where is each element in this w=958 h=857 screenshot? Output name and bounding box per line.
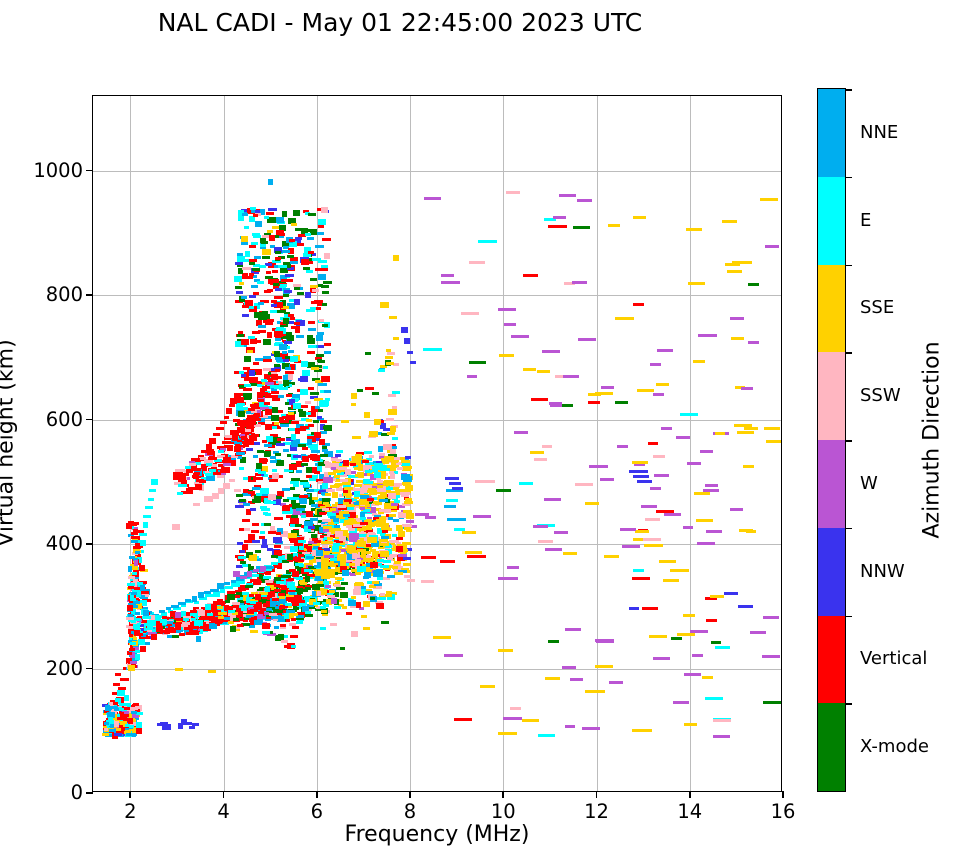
- data-point-w: [589, 465, 607, 468]
- data-point-sse: [375, 502, 382, 505]
- data-point-nnw: [162, 724, 171, 730]
- data-point-ssw: [348, 528, 356, 531]
- data-point-e: [213, 591, 220, 597]
- data-point-e: [633, 569, 645, 572]
- data-point-vertical: [286, 394, 291, 397]
- data-point-e: [374, 472, 382, 478]
- data-point-vertical: [266, 212, 275, 215]
- data-point-vertical: [215, 621, 222, 624]
- data-point-nnw: [445, 477, 460, 480]
- data-point-e: [250, 207, 256, 210]
- gridline-horizontal: [93, 171, 781, 172]
- y-tick-mark: [86, 294, 93, 296]
- data-point-sse: [379, 539, 388, 542]
- data-point-vertical: [267, 289, 273, 292]
- data-point-nne: [131, 711, 137, 714]
- data-point-ssw: [217, 475, 224, 478]
- data-point-vertical: [271, 391, 279, 394]
- data-point-x-mode: [237, 334, 244, 337]
- data-point-vertical: [315, 268, 323, 271]
- data-point-sse: [480, 685, 495, 688]
- data-point-w: [601, 386, 614, 389]
- data-point-vertical: [120, 712, 124, 718]
- x-tick-label: 14: [677, 802, 702, 822]
- data-point-sse: [398, 531, 405, 537]
- data-point-vertical: [178, 476, 187, 482]
- data-point-vertical: [262, 623, 270, 629]
- data-point-e: [446, 499, 457, 502]
- data-point-nne: [126, 733, 133, 736]
- y-tick-mark: [86, 792, 93, 794]
- data-point-w: [223, 463, 231, 466]
- data-point-w: [550, 404, 561, 407]
- data-point-x-mode: [357, 389, 364, 392]
- data-point-vertical: [226, 408, 232, 414]
- data-point-vertical: [314, 471, 320, 474]
- gridline-horizontal: [93, 420, 781, 421]
- data-point-e: [304, 569, 311, 572]
- data-point-sse: [400, 457, 405, 460]
- data-point-vertical: [265, 409, 272, 415]
- data-point-vertical: [237, 624, 243, 627]
- data-point-sse: [732, 261, 752, 264]
- data-point-vertical: [133, 529, 138, 535]
- data-point-nne: [364, 572, 371, 578]
- colorbar-segment-nne[interactable]: [818, 89, 845, 177]
- data-point-e: [259, 401, 264, 407]
- data-point-sse: [465, 551, 483, 554]
- data-point-vertical: [642, 607, 657, 610]
- data-point-x-mode: [242, 623, 250, 626]
- data-point-x-mode: [548, 640, 559, 643]
- data-point-w: [444, 654, 463, 657]
- data-point-w: [741, 387, 753, 390]
- data-point-e: [285, 603, 292, 606]
- data-point-x-mode: [273, 283, 280, 286]
- data-point-vertical: [184, 627, 193, 630]
- colorbar-tick: [845, 352, 852, 354]
- data-point-e: [151, 479, 157, 485]
- data-point-vertical: [275, 376, 280, 379]
- data-point-e: [291, 434, 296, 440]
- data-point-sse: [498, 649, 513, 652]
- data-point-sse: [385, 356, 392, 359]
- colorbar-segment-sse[interactable]: [818, 265, 845, 353]
- data-point-vertical: [209, 438, 217, 444]
- data-point-nne: [266, 566, 274, 569]
- data-point-sse: [386, 362, 394, 365]
- data-point-vertical: [124, 707, 130, 710]
- x-tick-label: 8: [404, 802, 416, 822]
- data-point-nnw: [629, 470, 647, 473]
- data-point-vertical: [249, 245, 256, 248]
- data-point-nne: [224, 582, 230, 585]
- data-point-nnw: [449, 482, 461, 485]
- data-point-e: [252, 233, 260, 236]
- data-point-sse: [306, 419, 312, 422]
- data-point-sse: [403, 563, 411, 566]
- data-point-sse: [363, 527, 372, 530]
- data-point-x-mode: [381, 621, 389, 624]
- data-point-ssw: [223, 483, 231, 489]
- data-point-x-mode: [262, 311, 268, 314]
- data-point-sse: [710, 595, 724, 598]
- data-point-vertical: [274, 545, 281, 548]
- data-point-vertical: [278, 410, 284, 413]
- data-point-sse: [405, 485, 414, 491]
- data-point-x-mode: [255, 550, 261, 553]
- colorbar[interactable]: NNEESSESSWWNNWVerticalX-mode: [817, 88, 846, 792]
- data-point-vertical: [343, 460, 349, 466]
- data-point-w: [425, 516, 435, 519]
- data-point-e: [310, 307, 316, 310]
- data-point-e: [183, 618, 190, 621]
- data-point-e: [308, 345, 317, 348]
- data-point-sse: [330, 508, 336, 511]
- data-point-nne: [444, 505, 456, 508]
- data-point-sse: [333, 528, 340, 531]
- data-point-sse: [250, 630, 257, 633]
- data-point-w: [687, 462, 700, 465]
- ionogram-figure: NAL CADI - May 01 22:45:00 2023 UTC 2468…: [0, 0, 958, 857]
- colorbar-label-w: W: [860, 475, 878, 493]
- data-point-x-mode: [227, 594, 235, 600]
- data-point-vertical: [308, 455, 317, 458]
- data-point-nne: [270, 460, 276, 463]
- data-point-vertical: [289, 464, 298, 470]
- data-point-e: [256, 493, 262, 496]
- data-point-nne: [196, 636, 201, 642]
- data-point-x-mode: [252, 268, 260, 271]
- x-tick-label: 10: [491, 802, 516, 822]
- data-point-ssw: [242, 267, 251, 270]
- data-point-nne: [274, 626, 280, 629]
- data-point-vertical: [247, 420, 254, 426]
- data-point-vertical: [248, 534, 255, 540]
- data-point-e: [272, 469, 277, 472]
- data-point-w: [700, 450, 712, 453]
- data-point-x-mode: [293, 210, 300, 216]
- data-point-nne: [365, 591, 373, 594]
- data-point-ssw: [713, 719, 731, 722]
- data-point-nne: [140, 585, 145, 588]
- data-point-x-mode: [340, 647, 345, 650]
- data-point-e: [334, 606, 341, 609]
- data-point-w: [559, 194, 576, 197]
- data-point-e: [142, 616, 147, 619]
- data-point-sse: [632, 729, 651, 732]
- data-point-vertical: [312, 538, 318, 541]
- data-point-vertical: [382, 530, 387, 533]
- gridline-vertical: [130, 96, 131, 791]
- data-point-nne: [342, 570, 349, 576]
- data-point-vertical: [277, 438, 284, 441]
- data-point-vertical: [344, 499, 352, 502]
- data-point-vertical: [202, 617, 210, 620]
- colorbar-segment-e[interactable]: [818, 177, 845, 265]
- colorbar-segment-nnw[interactable]: [818, 528, 845, 616]
- data-point-x-mode: [365, 352, 371, 355]
- data-point-vertical: [248, 491, 254, 494]
- data-point-x-mode: [283, 380, 290, 386]
- data-point-nne: [324, 351, 331, 354]
- data-point-e: [177, 492, 183, 495]
- plot-area[interactable]: 24681012141602004006008001000: [92, 95, 782, 792]
- data-point-vertical: [269, 235, 275, 241]
- colorbar-segment-ssw[interactable]: [818, 352, 845, 440]
- data-point-e: [378, 369, 385, 372]
- data-point-e: [290, 356, 298, 362]
- data-point-vertical: [263, 359, 271, 362]
- colorbar-title: Azimuth Direction: [920, 341, 945, 538]
- data-point-sse: [684, 723, 697, 726]
- data-point-x-mode: [321, 285, 329, 288]
- data-point-vertical: [523, 274, 538, 277]
- data-point-e: [291, 645, 296, 648]
- data-point-vertical: [633, 303, 643, 306]
- data-point-e: [290, 481, 298, 484]
- data-point-x-mode: [298, 409, 303, 412]
- data-point-vertical: [276, 230, 284, 233]
- data-point-w: [683, 526, 694, 529]
- data-point-sse: [391, 460, 397, 463]
- data-point-e: [185, 466, 191, 469]
- data-point-nne: [314, 565, 321, 568]
- data-point-e: [260, 506, 267, 509]
- data-point-w: [398, 554, 407, 557]
- data-point-w: [684, 673, 702, 676]
- data-point-vertical: [140, 591, 149, 594]
- data-point-sse: [321, 610, 326, 613]
- data-point-ssw: [542, 445, 552, 448]
- data-point-ssw: [469, 261, 484, 264]
- data-point-nnw: [242, 314, 249, 317]
- data-point-e: [248, 306, 254, 309]
- data-point-e: [332, 546, 339, 552]
- data-point-vertical: [115, 673, 121, 676]
- data-point-w: [325, 555, 333, 558]
- data-point-vertical: [274, 517, 283, 520]
- data-point-sse: [585, 690, 605, 693]
- data-point-nne: [268, 179, 273, 185]
- data-point-w: [533, 525, 549, 528]
- data-point-nne: [198, 592, 204, 598]
- data-point-sse: [389, 316, 397, 319]
- data-point-e: [271, 501, 276, 504]
- data-point-w: [622, 545, 640, 548]
- data-point-e: [680, 413, 698, 416]
- data-point-x-mode: [283, 499, 289, 502]
- data-point-sse: [351, 403, 356, 406]
- data-point-sse: [347, 545, 353, 551]
- data-point-nnw: [305, 292, 312, 298]
- data-point-vertical: [236, 397, 244, 403]
- data-point-vertical: [179, 633, 185, 636]
- data-point-nnw: [324, 548, 329, 551]
- data-point-nnw: [241, 374, 246, 377]
- data-point-vertical: [656, 510, 674, 513]
- data-point-vertical: [298, 600, 305, 603]
- data-point-w: [504, 323, 515, 326]
- data-point-vertical: [190, 610, 197, 613]
- data-point-e: [130, 642, 136, 645]
- data-point-vertical: [356, 602, 362, 608]
- data-point-x-mode: [306, 467, 312, 473]
- data-point-nne: [249, 625, 255, 628]
- colorbar-segment-vertical[interactable]: [818, 616, 845, 704]
- data-point-vertical: [274, 296, 281, 299]
- data-point-w: [698, 334, 718, 337]
- data-point-sse: [364, 412, 370, 418]
- data-point-nne: [279, 344, 287, 350]
- data-point-w: [554, 531, 568, 534]
- data-point-vertical: [265, 424, 272, 430]
- data-point-w: [507, 566, 519, 569]
- data-point-e: [354, 491, 360, 497]
- data-point-nne: [283, 449, 289, 452]
- data-point-ssw: [245, 429, 252, 432]
- data-point-w: [265, 382, 274, 385]
- data-point-vertical: [113, 702, 118, 705]
- data-point-vertical: [222, 441, 229, 444]
- colorbar-segment-x-mode[interactable]: [818, 703, 845, 791]
- data-point-nne: [131, 540, 139, 543]
- data-point-e: [214, 459, 222, 462]
- data-point-sse: [376, 519, 381, 522]
- data-point-ssw: [393, 483, 402, 486]
- y-tick-label: 600: [46, 410, 83, 430]
- data-point-ssw: [104, 728, 108, 731]
- data-point-e: [318, 219, 327, 225]
- data-point-vertical: [193, 473, 199, 479]
- data-point-w: [650, 487, 661, 490]
- x-tick-mark: [316, 791, 318, 798]
- data-point-vertical: [249, 435, 257, 441]
- data-point-vertical: [259, 536, 265, 539]
- data-point-ssw: [337, 505, 346, 508]
- data-point-x-mode: [239, 499, 246, 502]
- data-point-e: [295, 563, 303, 566]
- data-point-w: [467, 375, 477, 378]
- data-point-e: [239, 371, 245, 374]
- data-point-vertical: [306, 475, 312, 478]
- data-point-sse: [637, 389, 654, 392]
- data-point-sse: [341, 420, 349, 423]
- data-point-nne: [128, 614, 133, 617]
- data-point-nne: [254, 256, 262, 259]
- data-point-x-mode: [295, 228, 304, 231]
- data-point-sse: [374, 419, 381, 425]
- data-point-vertical: [244, 378, 252, 381]
- data-point-sse: [390, 426, 397, 432]
- data-point-vertical: [376, 603, 385, 609]
- data-point-e: [319, 401, 328, 407]
- data-point-nnw: [114, 733, 122, 736]
- data-point-nnw: [318, 345, 324, 348]
- data-point-ssw: [388, 394, 396, 397]
- data-point-sse: [615, 317, 634, 320]
- data-point-e: [347, 507, 354, 510]
- data-point-e: [228, 610, 234, 613]
- data-point-sse: [208, 670, 216, 673]
- x-tick-label: 12: [584, 802, 609, 822]
- y-tick-label: 800: [46, 285, 83, 305]
- colorbar-segment-w[interactable]: [818, 440, 845, 528]
- data-point-w: [730, 317, 744, 320]
- data-point-vertical: [302, 447, 308, 450]
- data-point-x-mode: [310, 392, 319, 395]
- x-tick-mark: [596, 791, 598, 798]
- data-point-vertical: [291, 421, 299, 424]
- data-point-w: [620, 528, 636, 531]
- data-point-vertical: [253, 362, 259, 365]
- data-point-sse: [737, 431, 754, 434]
- data-point-ssw: [402, 524, 411, 527]
- data-point-ssw: [506, 191, 520, 194]
- data-point-nne: [282, 351, 287, 354]
- data-point-ssw: [389, 555, 395, 558]
- data-point-sse: [393, 255, 399, 261]
- data-point-sse: [368, 488, 375, 491]
- data-point-ssw: [172, 524, 179, 530]
- data-point-ssw: [421, 580, 434, 583]
- data-point-x-mode: [256, 463, 263, 469]
- data-point-sse: [406, 529, 412, 532]
- data-point-w: [441, 281, 461, 284]
- data-point-vertical: [362, 460, 368, 463]
- data-point-x-mode: [257, 450, 264, 453]
- data-point-x-mode: [297, 444, 306, 447]
- data-point-x-mode: [496, 489, 511, 492]
- data-point-sse: [406, 513, 414, 519]
- data-point-x-mode: [274, 364, 280, 367]
- data-point-w: [750, 631, 766, 634]
- data-point-sse: [332, 492, 338, 498]
- data-point-nne: [129, 556, 135, 559]
- data-point-nnw: [236, 291, 242, 294]
- data-point-e: [519, 482, 533, 485]
- colorbar-tick: [845, 177, 852, 179]
- data-point-x-mode: [275, 453, 281, 456]
- x-tick-mark: [502, 791, 504, 798]
- data-point-x-mode: [310, 278, 317, 281]
- data-point-w: [424, 197, 441, 200]
- data-point-vertical: [254, 340, 261, 343]
- data-point-x-mode: [341, 582, 348, 585]
- data-point-sse: [344, 487, 353, 490]
- data-point-x-mode: [264, 523, 271, 526]
- data-point-vertical: [648, 442, 658, 445]
- x-tick-mark: [129, 791, 131, 798]
- y-axis-label: Virtual height (km): [0, 339, 19, 546]
- data-point-vertical: [223, 457, 231, 463]
- data-point-nne: [308, 328, 316, 331]
- data-point-vertical: [253, 214, 259, 217]
- data-point-sse: [677, 633, 695, 636]
- data-point-ssw: [575, 483, 593, 486]
- data-point-x-mode: [322, 303, 328, 306]
- data-point-ssw: [322, 508, 329, 511]
- data-point-sse: [722, 220, 737, 223]
- data-point-vertical: [294, 322, 300, 325]
- data-point-e: [325, 398, 330, 401]
- data-point-nne: [178, 602, 186, 605]
- data-point-w: [582, 727, 600, 730]
- data-point-vertical: [632, 577, 650, 580]
- data-point-nne: [296, 470, 302, 473]
- data-point-nnw: [249, 370, 255, 376]
- data-point-vertical: [216, 427, 224, 430]
